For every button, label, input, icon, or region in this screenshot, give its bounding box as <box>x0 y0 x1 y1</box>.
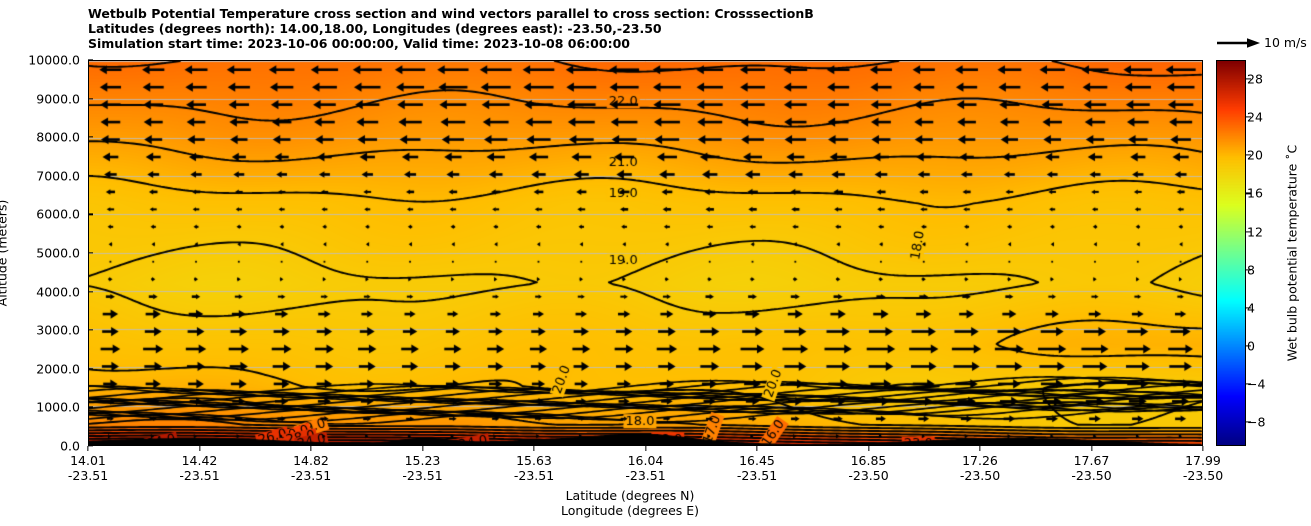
y-tick-label: 3000.0 <box>36 323 80 338</box>
y-tick-mark <box>88 98 93 99</box>
colorbar-tick-label: 8 <box>1247 262 1255 277</box>
y-tick-label: 5000.0 <box>36 246 80 261</box>
x-tick-label: 17.67-23.50 <box>1071 453 1111 483</box>
y-tick-label: 4000.0 <box>36 284 80 299</box>
quiver-key-label: 10 m/s <box>1264 35 1307 50</box>
y-tick-label: 2000.0 <box>36 361 80 376</box>
x-tick-label: 16.85-23.50 <box>848 453 888 483</box>
x-tick-mark <box>87 446 88 451</box>
x-axis-label-longitude: Longitude (degrees E) <box>561 503 699 518</box>
x-tick-label: 16.04-23.51 <box>625 453 665 483</box>
x-tick-longitude: -23.50 <box>848 468 888 483</box>
y-tick-label: 1000.0 <box>36 400 80 415</box>
colorbar <box>1216 60 1246 446</box>
x-tick-label: 17.99-23.50 <box>1183 453 1223 483</box>
x-tick-mark <box>979 446 980 451</box>
x-tick-longitude: -23.51 <box>737 468 777 483</box>
x-tick-mark <box>1202 446 1203 451</box>
x-tick-longitude: -23.51 <box>291 468 331 483</box>
y-tick-mark <box>88 445 93 446</box>
x-tick-latitude: 15.23 <box>402 453 442 468</box>
colorbar-tick-label: 12 <box>1247 224 1263 239</box>
x-tick-latitude: 14.82 <box>291 453 331 468</box>
colorbar-tick-label: −4 <box>1247 377 1265 392</box>
x-tick-latitude: 16.04 <box>625 453 665 468</box>
y-tick-mark <box>88 252 93 253</box>
y-tick-mark <box>88 407 93 408</box>
y-tick-label: 9000.0 <box>36 91 80 106</box>
x-tick-longitude: -23.50 <box>960 468 1000 483</box>
cross-section-plot[interactable] <box>88 60 1203 446</box>
colorbar-tick-label: 28 <box>1247 72 1263 87</box>
x-tick-label: 14.42-23.51 <box>179 453 219 483</box>
colorbar-tick-label: 20 <box>1247 148 1263 163</box>
colorbar-tick-label: 24 <box>1247 110 1263 125</box>
title-line-1: Wetbulb Potential Temperature cross sect… <box>88 6 1198 21</box>
x-tick-latitude: 17.26 <box>960 453 1000 468</box>
x-tick-longitude: -23.50 <box>1183 468 1223 483</box>
x-tick-latitude: 15.63 <box>514 453 554 468</box>
x-tick-latitude: 17.99 <box>1183 453 1223 468</box>
colorbar-tick-label: 16 <box>1247 186 1263 201</box>
x-tick-latitude: 14.42 <box>179 453 219 468</box>
y-tick-mark <box>88 59 93 60</box>
x-tick-longitude: -23.51 <box>402 468 442 483</box>
quiver-key: 10 m/s <box>1216 33 1311 55</box>
x-tick-label: 16.45-23.51 <box>737 453 777 483</box>
x-tick-latitude: 16.85 <box>848 453 888 468</box>
y-axis-ticks: 0.01000.02000.03000.04000.05000.06000.07… <box>0 60 80 446</box>
x-tick-label: 15.63-23.51 <box>514 453 554 483</box>
title-line-2: Latitudes (degrees north): 14.00,18.00, … <box>88 21 1198 36</box>
colorbar-tick-label: 0 <box>1247 338 1255 353</box>
reference-arrow-icon <box>1216 36 1262 50</box>
x-tick-latitude: 16.45 <box>737 453 777 468</box>
x-tick-longitude: -23.51 <box>68 468 108 483</box>
x-tick-latitude: 17.67 <box>1071 453 1111 468</box>
y-tick-mark <box>88 368 93 369</box>
y-tick-mark <box>88 330 93 331</box>
x-tick-mark <box>756 446 757 451</box>
y-axis-label: Altitude (meters) <box>0 200 10 307</box>
chart-title-block: Wetbulb Potential Temperature cross sect… <box>88 6 1198 51</box>
x-tick-longitude: -23.51 <box>514 468 554 483</box>
x-axis-label-latitude: Latitude (degrees N) <box>566 488 695 503</box>
x-tick-mark <box>533 446 534 451</box>
colorbar-tick-label: 4 <box>1247 300 1255 315</box>
y-tick-label: 10000.0 <box>28 53 80 68</box>
x-tick-mark <box>310 446 311 451</box>
colorbar-tick-label: −8 <box>1247 415 1265 430</box>
x-tick-mark <box>199 446 200 451</box>
title-line-3: Simulation start time: 2023-10-06 00:00:… <box>88 36 1198 51</box>
x-tick-mark <box>1091 446 1092 451</box>
y-tick-label: 6000.0 <box>36 207 80 222</box>
plot-canvas <box>89 61 1202 445</box>
y-tick-mark <box>88 214 93 215</box>
x-tick-longitude: -23.51 <box>625 468 665 483</box>
x-tick-latitude: 14.01 <box>68 453 108 468</box>
x-tick-longitude: -23.50 <box>1071 468 1111 483</box>
x-tick-mark <box>868 446 869 451</box>
y-tick-mark <box>88 291 93 292</box>
x-tick-longitude: -23.51 <box>179 468 219 483</box>
x-tick-mark <box>645 446 646 451</box>
y-tick-label: 8000.0 <box>36 130 80 145</box>
y-tick-mark <box>88 137 93 138</box>
x-tick-label: 17.26-23.50 <box>960 453 1000 483</box>
colorbar-label: Wet bulb potential temperature ˚C <box>1285 145 1300 362</box>
x-tick-label: 14.82-23.51 <box>291 453 331 483</box>
x-tick-label: 15.23-23.51 <box>402 453 442 483</box>
colorbar-gradient <box>1217 61 1245 445</box>
y-tick-mark <box>88 175 93 176</box>
x-tick-label: 14.01-23.51 <box>68 453 108 483</box>
y-tick-label: 0.0 <box>60 439 80 454</box>
x-tick-mark <box>422 446 423 451</box>
y-tick-label: 7000.0 <box>36 168 80 183</box>
